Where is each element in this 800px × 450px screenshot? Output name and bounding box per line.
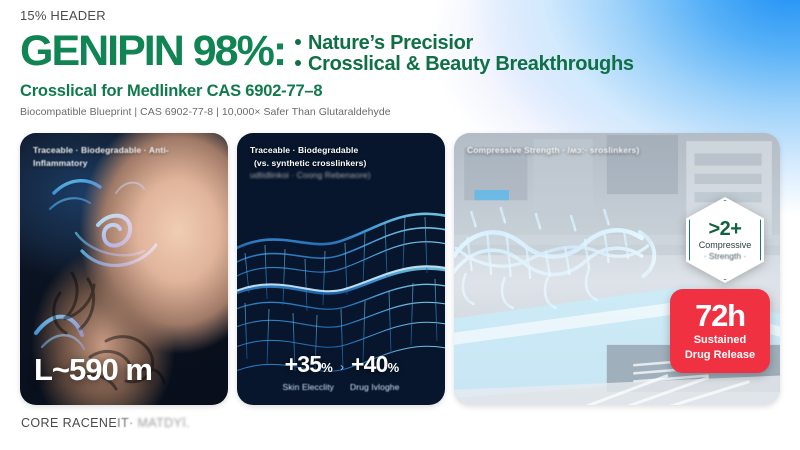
page-fineprint: Biocompatible Blueprint | CAS 6902-77-8 … bbox=[20, 105, 780, 119]
stat-label: Skin Elecclity bbox=[283, 381, 334, 393]
header: 15% HEADER GENIPIN 98%: Nature’s Precisi… bbox=[20, 8, 780, 119]
page-title-text: GENIPIN 98% bbox=[20, 27, 273, 75]
footer-text-a: CORE RACENE bbox=[21, 416, 117, 430]
page-title-colon: : bbox=[273, 27, 286, 75]
card-caption: Traceable · Biodegradable · Anti-Inflamm… bbox=[33, 144, 218, 169]
footer-text-c: MATDYî. bbox=[137, 416, 190, 430]
footer-text-b: IT· bbox=[117, 416, 133, 430]
stat-number: +40 bbox=[351, 351, 388, 377]
stat-value: +35% bbox=[283, 352, 334, 380]
card-stat-value: L~590 m bbox=[34, 353, 152, 387]
card-row: Traceable · Biodegradable · Anti-Inflamm… bbox=[20, 133, 780, 405]
card-caption-line-3: udtidlinkoi · Coong Rebenaore) bbox=[250, 169, 435, 182]
footer-text: CORE RACENEIT· MATDYî. bbox=[21, 416, 190, 430]
card-caption: Traceable · Biodegradable (vs. synthetic… bbox=[250, 144, 435, 182]
card-caption: Compressive Strength · /ʍɔː· sroslinkers… bbox=[467, 144, 770, 157]
stat-skin-elasticity: +35% Skin Elecclity bbox=[283, 352, 334, 393]
helix-scaffold-graphic bbox=[454, 198, 665, 318]
stat-value: +40% bbox=[350, 352, 399, 380]
headline-bullet-list: Nature’s Precisior Crosslical & Beauty B… bbox=[295, 33, 634, 75]
hex-badge-label-2: · Strength · bbox=[704, 251, 747, 262]
headline-bullet-1: Nature’s Precisior bbox=[295, 33, 634, 54]
title-row: GENIPIN 98%: Nature’s Precisior Crosslic… bbox=[20, 28, 780, 75]
card-scaffold-lab[interactable]: Compressive Strength · /ʍɔː· sroslinkers… bbox=[454, 133, 780, 405]
stat-unit: % bbox=[321, 360, 332, 375]
stat-unit: % bbox=[388, 360, 399, 375]
hex-badge-value: >2+ bbox=[709, 218, 742, 240]
bullet-dot-icon bbox=[295, 39, 301, 45]
drug-release-badge[interactable]: 72h Sustained Drug Release bbox=[670, 289, 770, 373]
hex-badge-label-1: Compressive bbox=[699, 240, 752, 251]
red-badge-label-1: Sustained bbox=[694, 334, 747, 348]
card-caption-line-1: Traceable · Biodegradable bbox=[250, 144, 435, 157]
header-kicker: 15% HEADER bbox=[20, 8, 780, 24]
card-caption-text: Traceable · Biodegradable · Anti-Inflamm… bbox=[33, 145, 169, 168]
red-badge-value: 72h bbox=[695, 300, 745, 332]
headline-bullet-2: Crosslical & Beauty Breakthroughs bbox=[295, 54, 634, 75]
card-caption-line-2: (vs. synthetic crosslinkers) bbox=[250, 157, 435, 170]
chevron-right-icon: › bbox=[340, 360, 344, 374]
card-caption-text: Compressive Strength · /ʍɔː· sroslinkers… bbox=[467, 145, 639, 155]
headline-bullet-2-label: Crosslical & Beauty Breakthroughs bbox=[308, 54, 634, 75]
red-badge-label-2: Drug Release bbox=[685, 349, 755, 363]
stat-label: Drug Ivloghe bbox=[350, 381, 399, 393]
compressive-strength-badge[interactable]: >2+ Compressive · Strength · bbox=[686, 197, 764, 283]
card-stat-group: +35% Skin Elecclity › +40% Drug Ivloghe bbox=[237, 352, 445, 393]
stat-number: +35 bbox=[285, 351, 322, 377]
headline-bullet-1-label: Nature’s Precisior bbox=[308, 33, 473, 54]
page-title: GENIPIN 98%: bbox=[20, 28, 286, 74]
bullet-dot-icon bbox=[295, 60, 301, 66]
stat-drug-uptake: +40% Drug Ivloghe bbox=[350, 352, 399, 393]
card-collagen-mesh[interactable]: Traceable · Biodegradable (vs. synthetic… bbox=[237, 133, 445, 405]
card-skin-portrait[interactable]: Traceable · Biodegradable · Anti-Inflamm… bbox=[20, 133, 228, 405]
page-subtitle: Crosslical for Medlinker CAS 6902-77–8 bbox=[20, 81, 780, 101]
